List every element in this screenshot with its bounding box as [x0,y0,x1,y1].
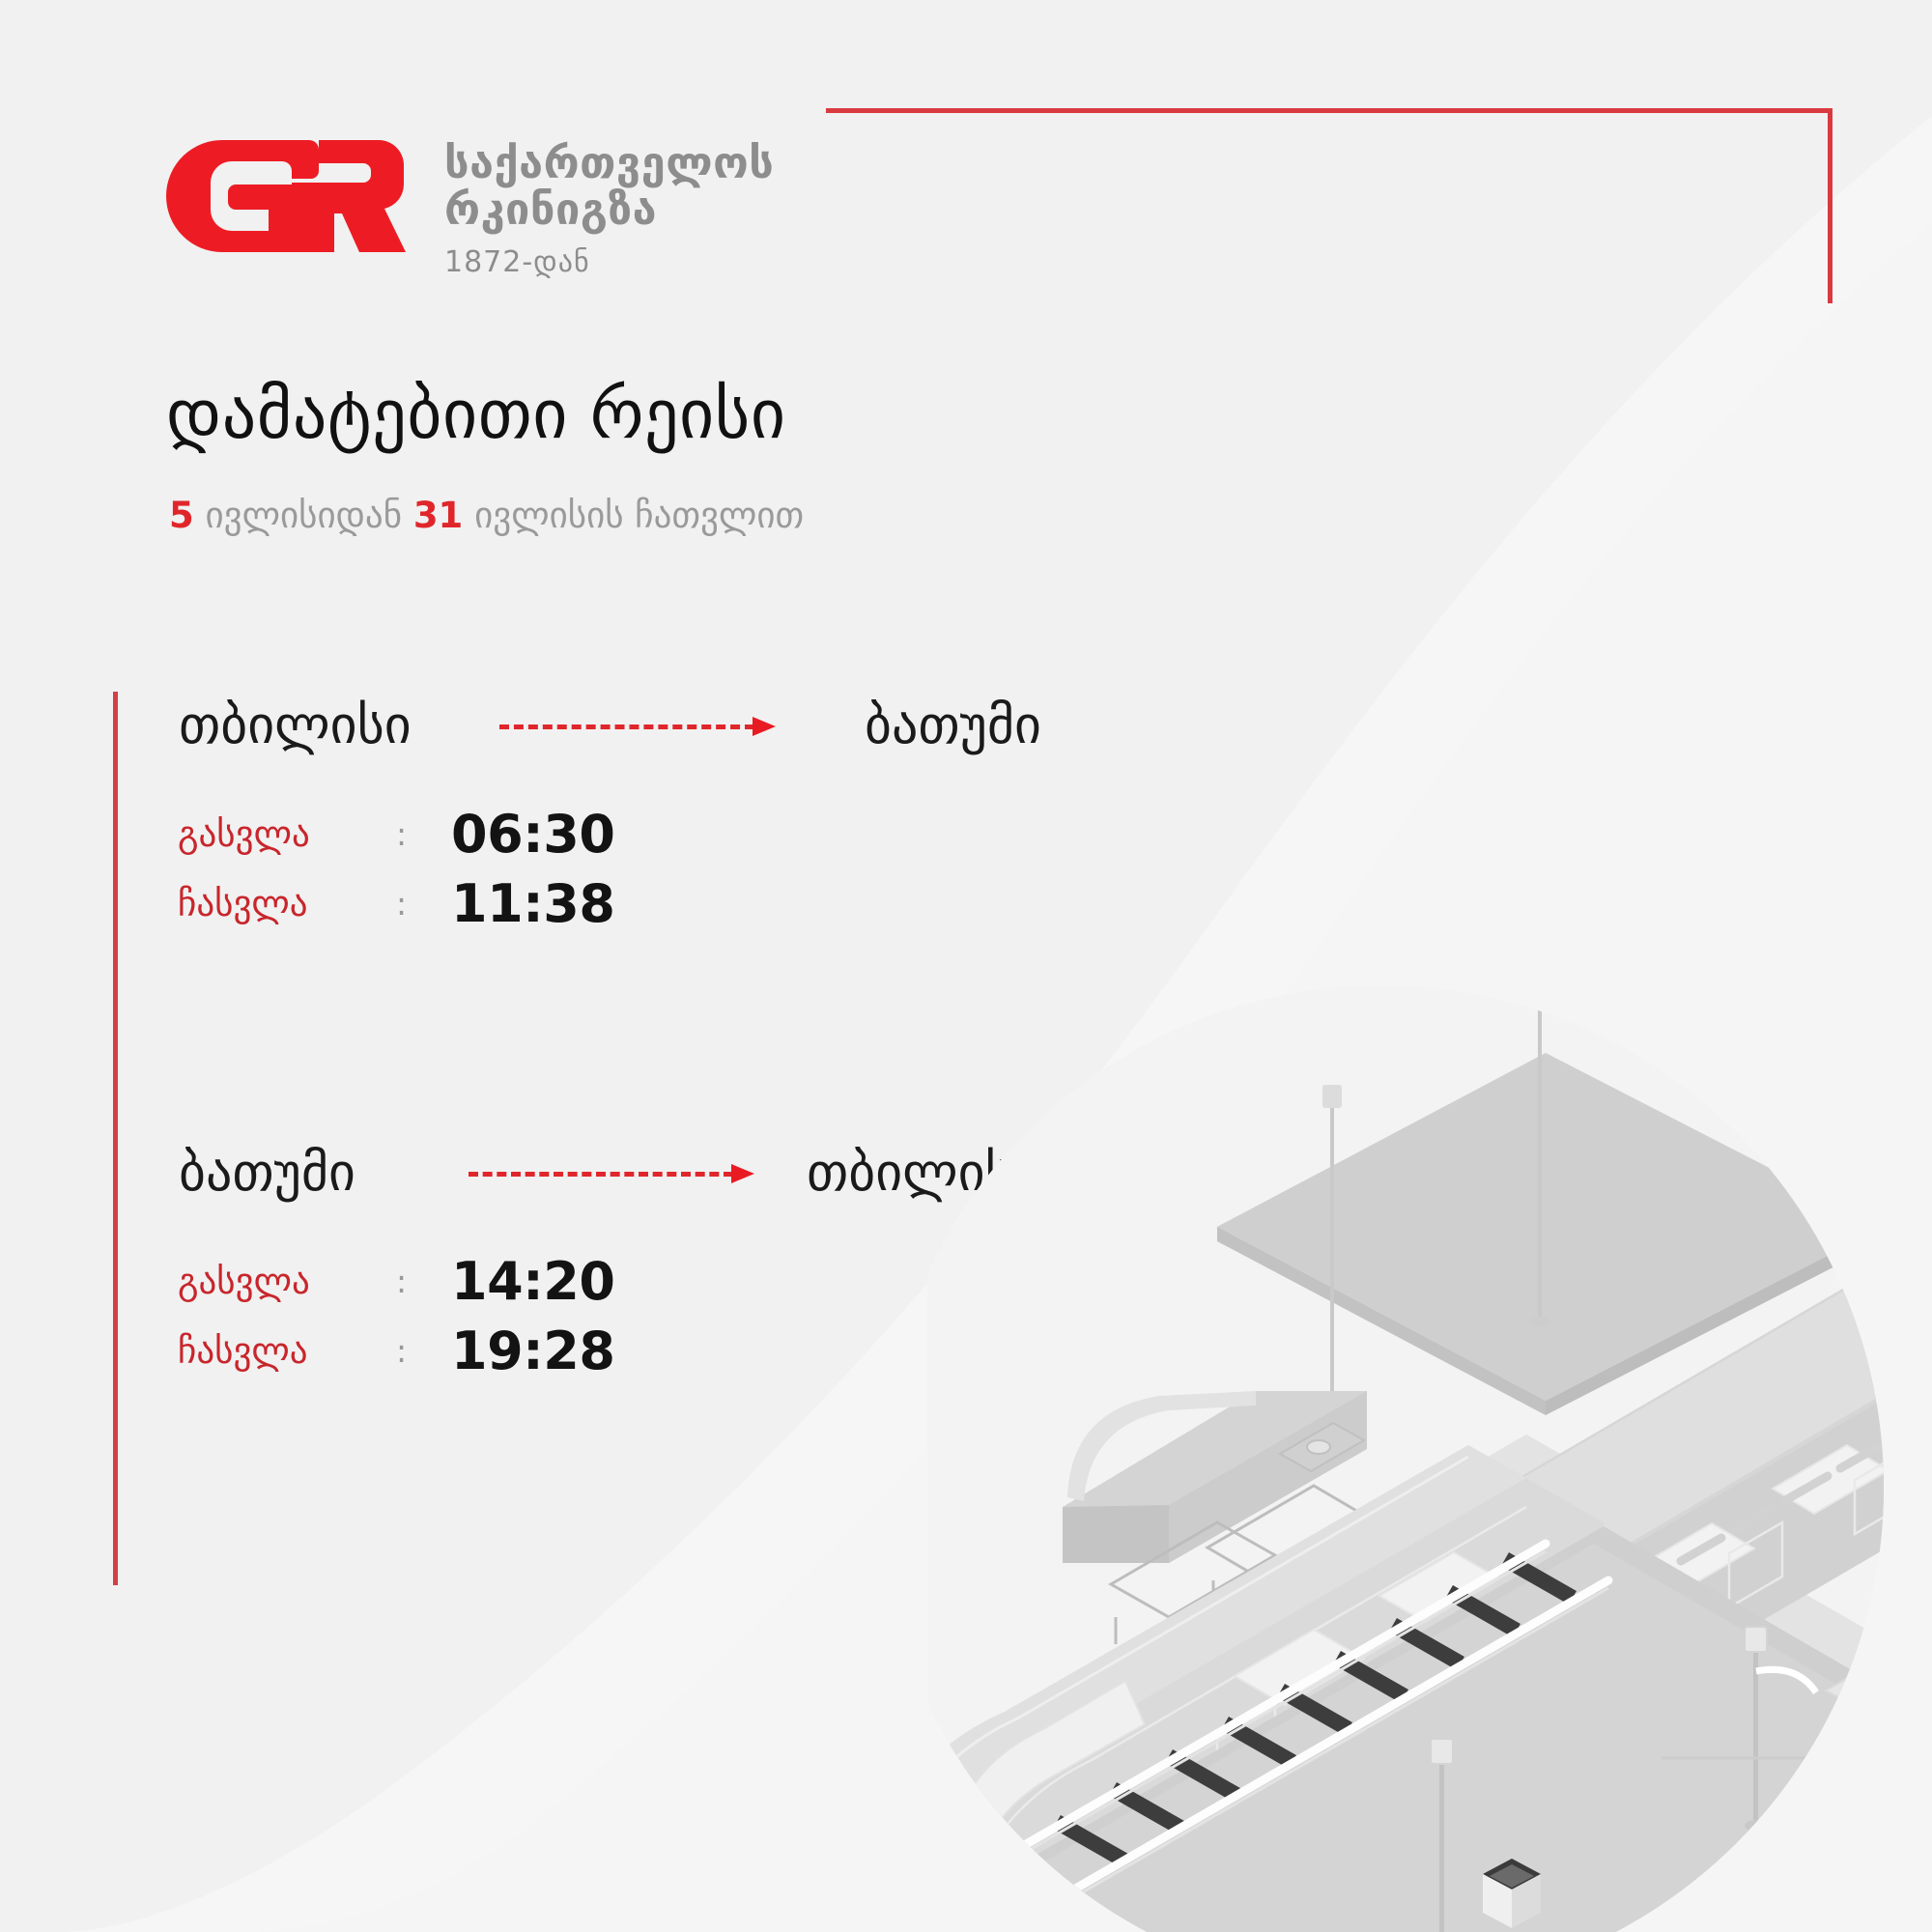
route-header: ბათუმი თბილისი [118,1139,1171,1207]
departure-row: გასვლა : 06:30 [118,800,1171,869]
arrow-shaft [469,1172,733,1177]
departure-row: გასვლა : 14:20 [118,1247,1171,1317]
period-end-day: 31 [413,495,464,536]
trip-row: ბათუმი თბილისი გასვლა : 14:20 ჩასვლა : 1… [118,1139,1171,1386]
time-list: გასვლა : 14:20 ჩასვლა : 19:28 [118,1247,1171,1386]
destination-city: ბათუმი [865,692,1041,759]
arrival-label: ჩასვლა [178,1317,308,1386]
arrival-row: ჩასვლა : 11:38 [118,869,1171,939]
arrow-head [731,1164,754,1183]
period-start-day: 5 [169,495,194,536]
arrival-time: 11:38 [451,869,614,939]
origin-city: ბათუმი [179,1139,355,1207]
label-separator: : [396,800,407,869]
period-start-month: ივლისიდან [206,495,403,536]
arrival-row: ჩასვლა : 19:28 [118,1317,1171,1386]
arrow-shaft [499,724,754,729]
validity-period: 5 ივლისიდან 31 ივლისის ჩათვლით [169,495,804,536]
departure-time: 06:30 [451,800,614,869]
label-separator: : [396,1317,407,1386]
page-title: დამატებითი რეისი [166,375,786,454]
brand-since: 1872-დან [444,245,774,279]
departure-label: გასვლა [178,800,310,869]
time-list: გასვლა : 06:30 ჩასვლა : 11:38 [118,800,1171,939]
dashed-arrow-right-icon [469,1171,754,1177]
trip-row: თბილისი ბათუმი გასვლა : 06:30 ჩასვლა : 1… [118,692,1171,939]
period-end-month: ივლისის ჩათვლით [474,495,804,536]
destination-city: თბილისი [807,1139,1039,1207]
origin-city: თბილისი [179,692,412,759]
departure-time: 14:20 [451,1247,614,1317]
poster-canvas: საქართველოს რკინიგზა 1872-დან დამატებითი… [0,0,1932,1932]
departure-label: გასვლა [178,1247,310,1317]
arrow-head [753,717,776,736]
gr-monogram-icon [164,138,406,254]
dashed-arrow-right-icon [499,724,776,729]
corner-bracket-decoration [826,108,1833,303]
arrival-label: ჩასვლა [178,869,308,939]
brand-logo: საქართველოს რკინიგზა 1872-დან [164,138,774,279]
brand-name: საქართველოს რკინიგზა [444,140,774,233]
route-header: თბილისი ბათუმი [118,692,1171,759]
schedule-panel: თბილისი ბათუმი გასვლა : 06:30 ჩასვლა : 1… [113,692,1176,1585]
arrival-time: 19:28 [451,1317,614,1386]
label-separator: : [396,1247,407,1317]
label-separator: : [396,869,407,939]
